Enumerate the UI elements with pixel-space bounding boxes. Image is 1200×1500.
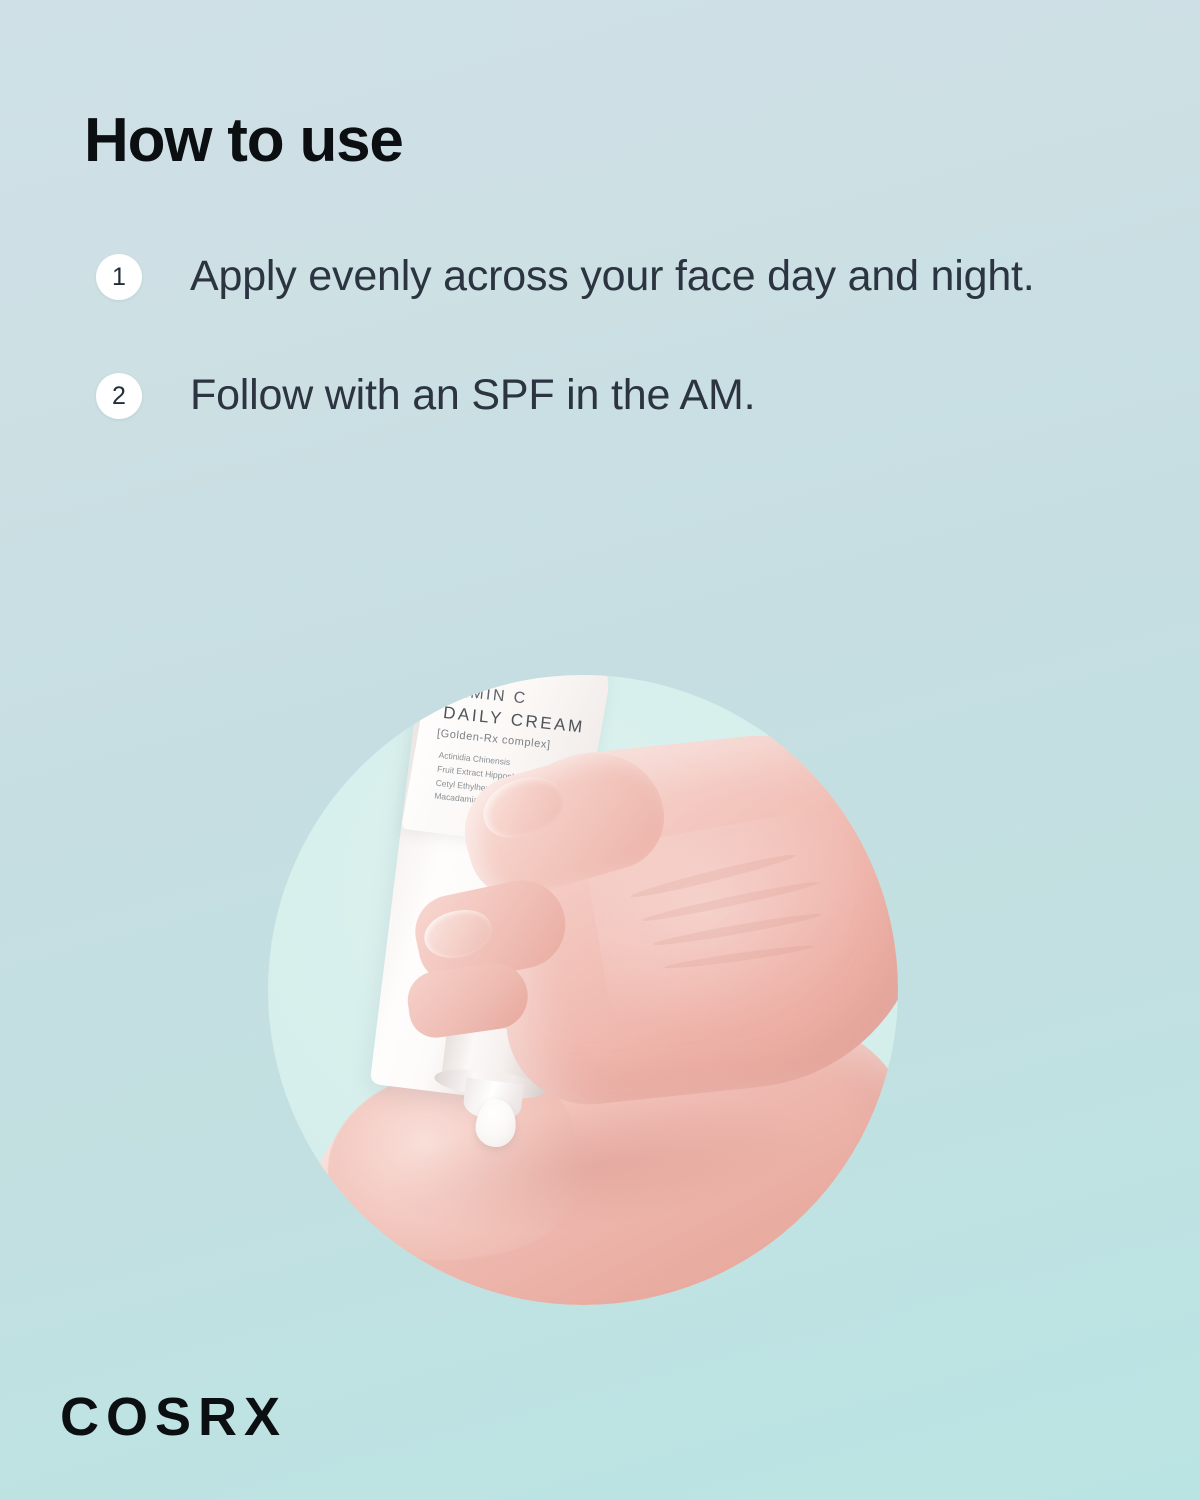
step-text-2: Follow with an SPF in the AM.: [190, 367, 755, 424]
steps-list: 1 Apply evenly across your face day and …: [96, 248, 1036, 486]
step-text-1: Apply evenly across your face day and ni…: [190, 248, 1035, 305]
brand-logo: COSRX: [60, 1386, 287, 1448]
product-photo-circle: HA AMIN C DAILY CREAM [Golden-Rx complex…: [268, 675, 898, 1305]
infographic-page: How to use 1 Apply evenly across your fa…: [0, 0, 1200, 1500]
list-item: 2 Follow with an SPF in the AM.: [96, 367, 1036, 424]
page-title: How to use: [84, 108, 403, 173]
step-number-badge-2: 2: [96, 373, 142, 419]
step-number-badge-1: 1: [96, 254, 142, 300]
list-item: 1 Apply evenly across your face day and …: [96, 248, 1036, 305]
